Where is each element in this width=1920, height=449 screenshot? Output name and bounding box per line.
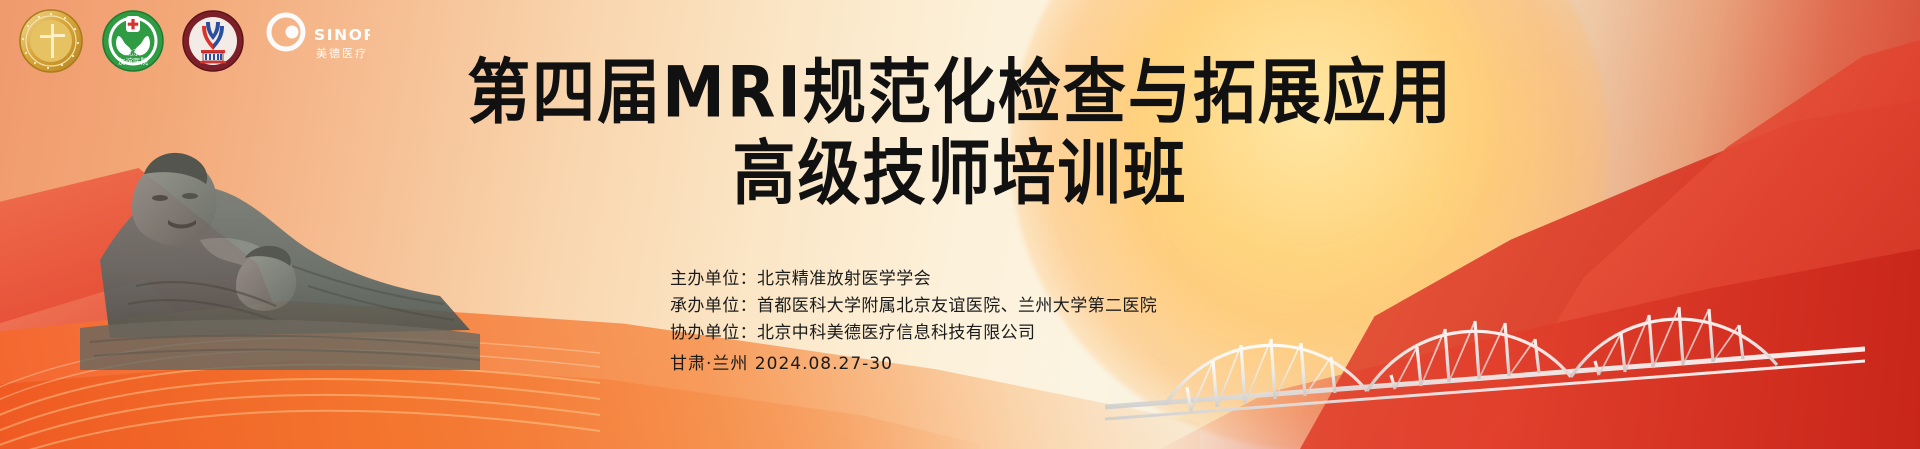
sponsor-logo-bar: 北京 友谊医院 bbox=[18, 8, 370, 74]
beijing-friendship-hospital-logo: 北京 友谊医院 bbox=[102, 10, 164, 72]
mogao-grotto-carving-illustration bbox=[40, 90, 510, 370]
organizer-coorganizer: 协办单位：北京中科美德医疗信息科技有限公司 bbox=[670, 320, 1157, 347]
organizer-host: 主办单位：北京精准放射医学学会 bbox=[670, 266, 1157, 293]
svg-text:北京: 北京 bbox=[126, 47, 141, 57]
sinorad-brand-text: SINORAD bbox=[314, 26, 370, 44]
venue-and-date: 甘肃·兰州 2024.08.27-30 bbox=[670, 351, 1157, 378]
organizer-info: 主办单位：北京精准放射医学学会 承办单位：首都医科大学附属北京友谊医院、兰州大学… bbox=[670, 266, 1157, 377]
svg-text:友谊医院: 友谊医院 bbox=[118, 56, 148, 66]
organizer-undertaker: 承办单位：首都医科大学附属北京友谊医院、兰州大学第二医院 bbox=[670, 293, 1157, 320]
zhongshan-bridge-illustration bbox=[1105, 199, 1865, 449]
beijing-precision-radiology-society-logo bbox=[18, 8, 84, 74]
sinorad-logo: SINORAD 美德医疗 bbox=[262, 10, 370, 72]
conference-banner: 北京 友谊医院 bbox=[0, 0, 1920, 449]
lanzhou-university-second-hospital-logo bbox=[182, 10, 244, 72]
sinorad-brand-cn-text: 美德医疗 bbox=[316, 46, 368, 60]
